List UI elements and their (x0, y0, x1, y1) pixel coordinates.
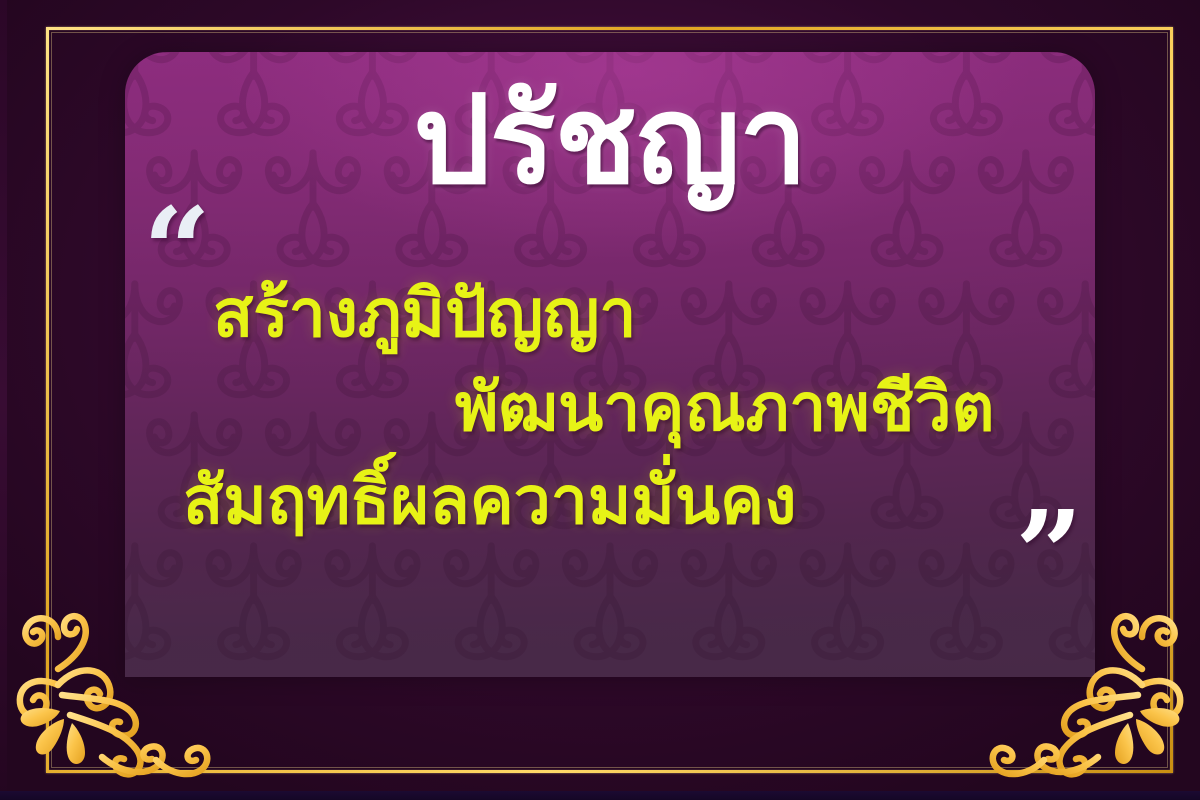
left-edge-rule (0, 0, 7, 800)
quote-line-2: พัฒนาคุณภาพชีวิต (125, 361, 1095, 455)
page-title: ปรัชญา (125, 78, 1095, 202)
quote-line-3: สัมฤทธิ์ผลความมั่นคง (125, 454, 1095, 548)
poster-canvas: ปรัชญา “ สร้างภูมิปัญญา พัฒนาคุณภาพชีวิต… (0, 0, 1200, 800)
bottom-edge-rule (0, 791, 1200, 800)
quote-panel: ปรัชญา “ สร้างภูมิปัญญา พัฒนาคุณภาพชีวิต… (125, 52, 1095, 677)
quote-lines: สร้างภูมิปัญญา พัฒนาคุณภาพชีวิต สัมฤทธิ์… (125, 267, 1095, 548)
poster-content: ปรัชญา “ สร้างภูมิปัญญา พัฒนาคุณภาพชีวิต… (125, 52, 1095, 677)
closing-quote-mark: ” (1015, 507, 1081, 601)
quote-line-1: สร้างภูมิปัญญา (125, 267, 1095, 361)
